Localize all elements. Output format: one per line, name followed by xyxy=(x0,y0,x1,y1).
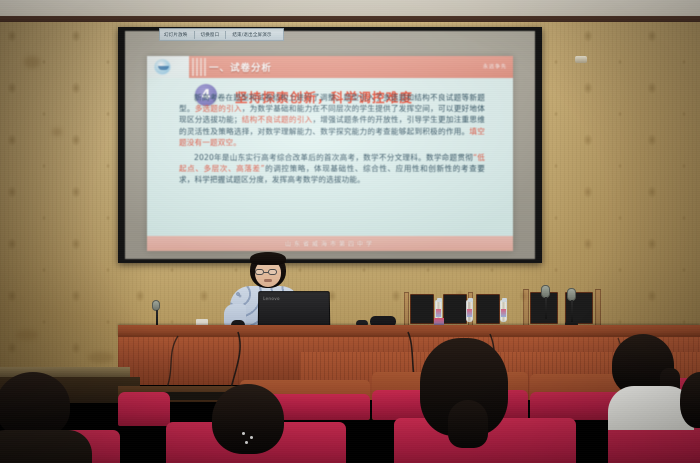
student-front-left-shoulders xyxy=(0,430,92,463)
bottle-cap xyxy=(502,298,507,302)
laptop-brand-label: Lenovo xyxy=(263,296,280,301)
slide-footer-school-name: 山东省威海市第四中学 xyxy=(285,239,375,248)
hair-clip xyxy=(245,441,248,444)
bottle-cap xyxy=(468,298,473,302)
slide-body-text: 新高考卷在题型和试卷结构上进行了调整。题型引入了多选题和结构不良试题等新题型。多… xyxy=(179,92,485,190)
water-bottle[interactable] xyxy=(500,300,507,322)
toolbar-item-3[interactable]: 结束/退出全屏演示 xyxy=(232,32,271,38)
laptop-lid[interactable]: Lenovo xyxy=(258,291,331,328)
slide-paragraph-1: 新高考卷在题型和试卷结构上进行了调整。题型引入了多选题和结构不良试题等新题型。多… xyxy=(179,92,485,148)
slide-section-heading: 一、试卷分析 xyxy=(209,60,272,74)
bottle-label xyxy=(436,309,441,317)
school-crest-icon xyxy=(154,59,171,75)
wall-scuff xyxy=(88,352,114,363)
presenter-hair-front xyxy=(250,252,286,265)
panel-divider xyxy=(595,289,601,326)
student-front-left xyxy=(0,372,70,438)
toolbar-item-1[interactable]: 幻灯片放映 xyxy=(164,32,188,38)
microphone-stem xyxy=(571,300,573,324)
panel-chair-back xyxy=(476,294,500,324)
p1-highlight-1: 多选题的引入 xyxy=(195,104,242,113)
ceiling-light-fixture xyxy=(575,56,587,63)
panel-divider xyxy=(523,289,529,326)
slide-header: 一、试卷分析 永远争先 xyxy=(147,56,513,78)
toolbar-item-2[interactable]: 切换窗口 xyxy=(201,32,220,38)
microphone-stem xyxy=(545,297,547,321)
presenter-mouth xyxy=(264,279,272,282)
wall-scuff xyxy=(16,330,38,340)
bottle-label xyxy=(467,309,472,317)
header-stripe-decoration xyxy=(192,58,206,76)
student-hair xyxy=(212,384,284,454)
slide-header-right-mark: 永远争先 xyxy=(483,63,507,70)
slide-paragraph-2: 2020年是山东实行高考综合改革后的首次高考，数学不分文理科。数学命题贯彻“低起… xyxy=(179,152,485,186)
wall-scuff xyxy=(52,128,62,136)
panel-chair-back xyxy=(443,294,467,324)
wall-scuff xyxy=(24,56,40,68)
crest-swoosh-icon xyxy=(158,66,169,70)
student-hair xyxy=(680,372,700,428)
hair-clip xyxy=(250,436,253,439)
slide-footer: 山东省威海市第四中学 xyxy=(147,236,513,251)
student-mid-left xyxy=(212,384,284,454)
presentation-slide[interactable]: 一、试卷分析 永远争先 4 坚持探索创新，科学调控难度 新高考卷在题型和试卷结构… xyxy=(147,56,513,251)
bottle-label xyxy=(501,309,506,317)
audience-seat-partial[interactable] xyxy=(118,392,170,426)
microphone-base xyxy=(539,319,552,323)
bottle-cap xyxy=(437,298,442,302)
projector-screen[interactable]: 一、试卷分析 永远争先 4 坚持探索创新，科学调控难度 新高考卷在题型和试卷结构… xyxy=(125,31,535,259)
panel-divider xyxy=(404,292,409,326)
panel-chair-back xyxy=(410,294,434,324)
lecture-hall-photo: 一、试卷分析 永远争先 4 坚持探索创新，科学调控难度 新高考卷在题型和试卷结构… xyxy=(0,0,700,463)
student-far-right xyxy=(680,372,700,428)
glasses-lens-left xyxy=(255,269,264,275)
presenter-glasses xyxy=(255,269,281,276)
toolbar-separator xyxy=(225,31,226,39)
hair-clip xyxy=(242,432,245,435)
p2-part-a: 2020年是山东实行高考综合改革后的首次高考，数学不分文理科。数学命题贯彻 xyxy=(194,153,473,162)
student-center-hair-tail xyxy=(448,400,488,448)
glasses-lens-right xyxy=(268,269,277,275)
water-bottle[interactable] xyxy=(466,300,473,322)
student-hair xyxy=(0,372,70,438)
toolbar-separator xyxy=(194,31,195,39)
p1-highlight-2: 结构不良试题的引入 xyxy=(242,115,313,124)
presenter-toolbar[interactable]: 幻灯片放映 切换窗口 结束/退出全屏演示 xyxy=(159,28,284,41)
